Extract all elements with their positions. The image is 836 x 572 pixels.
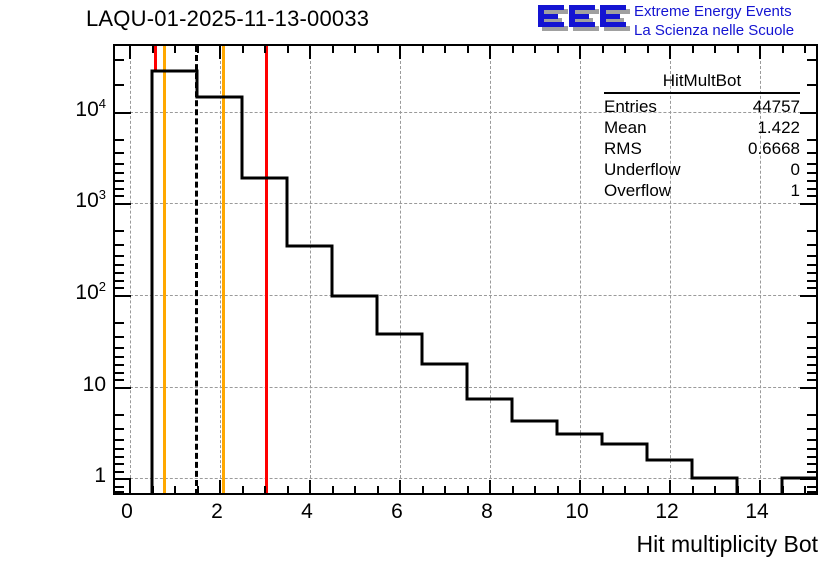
- ytick-right-minor: [807, 347, 816, 349]
- ytick-right-minor: [807, 336, 816, 338]
- ytick-label-1e2: 102: [38, 282, 106, 304]
- ytick-minor-left: [115, 188, 124, 190]
- xtick-top-minor-3: [264, 46, 266, 53]
- ytick-right-minor: [807, 448, 816, 450]
- ytick-right-major-1e3: [800, 203, 816, 205]
- ytick-minor-left: [115, 152, 124, 154]
- stats-value-rms: 0.6668: [748, 138, 800, 159]
- stats-label-overflow: Overflow: [604, 180, 671, 201]
- xtick-major-8: [489, 480, 491, 493]
- xtick-top-minor-8-5: [512, 46, 514, 53]
- xtick-top-minor-14-5: [782, 46, 784, 53]
- ytick-right-minor: [807, 272, 816, 274]
- ytick-right-minor: [807, 364, 816, 366]
- stats-label-underflow: Underflow: [604, 159, 681, 180]
- ytick-right-minor: [807, 372, 816, 374]
- xtick-major-12: [669, 480, 671, 493]
- xtick-top-minor-6-5: [422, 46, 424, 53]
- xtick-top-major-14: [759, 46, 761, 59]
- xtick-top-major-2: [219, 46, 221, 59]
- ytick-minor-left: [115, 59, 124, 61]
- xtick-minor-11-5: [647, 486, 649, 493]
- ytick-right-minor: [807, 471, 816, 473]
- xtick-label-4: 4: [277, 499, 337, 524]
- xtick-minor-6-5: [422, 486, 424, 493]
- ytick-right-major-1: [800, 478, 816, 480]
- xtick-label-2: 2: [187, 499, 247, 524]
- ytick-minor-left: [115, 439, 124, 441]
- xtick-top-major-12: [669, 46, 671, 59]
- ytick-minor-left: [115, 264, 124, 266]
- ytick-right-minor: [807, 163, 816, 165]
- ytick-major-1e4: [115, 112, 131, 114]
- ytick-minor-left: [115, 322, 124, 324]
- ytick-minor-left: [115, 372, 124, 374]
- xtick-top-major-6: [399, 46, 401, 59]
- ytick-major-1e3: [115, 203, 131, 205]
- xtick-top-minor-7: [444, 46, 446, 53]
- ytick-right-minor: [807, 264, 816, 266]
- ytick-minor-left: [115, 255, 124, 257]
- ytick-minor-left: [115, 272, 124, 274]
- xtick-label-6: 6: [367, 499, 427, 524]
- stats-row-rms: RMS 0.6668: [600, 138, 804, 159]
- xtick-top-minor-9: [534, 46, 536, 53]
- xtick-label-0: 0: [97, 499, 157, 524]
- ytick-right-minor: [807, 428, 816, 430]
- ytick-right-minor: [807, 287, 816, 289]
- ytick-right-minor: [807, 244, 816, 246]
- xtick-minor-1-5: [197, 486, 199, 493]
- xtick-major-6: [399, 480, 401, 493]
- ytick-minor-left: [115, 486, 124, 488]
- xtick-minor-7-5: [467, 486, 469, 493]
- ytick-right-minor: [807, 379, 816, 381]
- xtick-label-8: 8: [457, 499, 517, 524]
- eee-logo-text: Extreme Energy Events La Scienza nelle S…: [634, 2, 834, 40]
- ytick-right-minor: [807, 84, 816, 86]
- ytick-right-minor: [807, 195, 816, 197]
- ytick-minor-left: [115, 139, 124, 141]
- ytick-minor-left: [115, 347, 124, 349]
- xtick-top-minor-10-5: [602, 46, 604, 53]
- ytick-major-10: [115, 387, 131, 389]
- xtick-label-10: 10: [547, 499, 607, 524]
- xtick-label-12: 12: [637, 499, 697, 524]
- xtick-top-major-8: [489, 46, 491, 59]
- stats-row-mean: Mean 1.422: [600, 117, 804, 138]
- xtick-top-minor-4-5: [332, 46, 334, 53]
- eee-logo-mark: [538, 3, 630, 37]
- ytick-minor-left: [115, 84, 124, 86]
- ytick-label-1e3: 103: [38, 190, 106, 212]
- xtick-top-minor-1: [174, 46, 176, 53]
- stats-row-entries: Entries 44757: [600, 96, 804, 117]
- ytick-minor-left: [115, 163, 124, 165]
- ytick-right-minor: [807, 456, 816, 458]
- xtick-minor-0-5: [152, 486, 154, 493]
- ytick-minor-left: [115, 336, 124, 338]
- xtick-minor-2-5: [242, 486, 244, 493]
- stats-label-entries: Entries: [604, 96, 657, 117]
- xtick-major-2: [219, 480, 221, 493]
- xtick-top-minor-12-5: [692, 46, 694, 53]
- xtick-top-minor-15: [804, 46, 806, 53]
- ytick-minor-left: [115, 448, 124, 450]
- xtick-major-14: [759, 480, 761, 493]
- ytick-right-minor: [807, 172, 816, 174]
- ytick-major-1: [115, 478, 131, 480]
- ytick-right-major-1e2: [800, 295, 816, 297]
- ytick-right-minor: [807, 356, 816, 358]
- xtick-minor-7: [444, 486, 446, 493]
- xtick-top-minor-11: [624, 46, 626, 53]
- ytick-minor-left: [115, 244, 124, 246]
- plot-canvas: LAQU-01-2025-11-13-00033: [0, 0, 836, 572]
- ytick-right-minor: [807, 255, 816, 257]
- eee-logo-line2: La Scienza nelle Scuole: [634, 21, 834, 40]
- xtick-top-minor-3-5: [287, 46, 289, 53]
- xtick-minor-4-5: [332, 486, 334, 493]
- eee-logo: Extreme Energy Events La Scienza nelle S…: [538, 2, 834, 40]
- xtick-top-minor-2-5: [242, 46, 244, 53]
- ytick-minor-left: [115, 471, 124, 473]
- xtick-minor-10-5: [602, 486, 604, 493]
- xtick-minor-5-5: [377, 486, 379, 493]
- ytick-right-minor: [807, 280, 816, 282]
- stats-row-underflow: Underflow 0: [600, 159, 804, 180]
- x-axis-title: Hit multiplicity Bot: [637, 530, 818, 558]
- xtick-top-major-0: [129, 46, 131, 59]
- xtick-label-14: 14: [727, 499, 787, 524]
- ytick-label-1: 1: [38, 465, 106, 487]
- ytick-right-minor: [807, 439, 816, 441]
- stats-value-entries: 44757: [753, 96, 800, 117]
- ytick-right-minor: [807, 230, 816, 232]
- ytick-minor-left: [115, 491, 124, 493]
- ytick-right-minor: [807, 414, 816, 416]
- xtick-top-major-10: [579, 46, 581, 59]
- xtick-minor-1: [174, 486, 176, 493]
- ytick-minor-left: [115, 414, 124, 416]
- xtick-minor-12-5: [692, 486, 694, 493]
- stats-box: HitMultBot Entries 44757 Mean 1.422 RMS …: [600, 70, 804, 201]
- ytick-major-1e2: [115, 295, 131, 297]
- eee-logo-line1: Extreme Energy Events: [634, 2, 834, 21]
- xtick-minor-14-5: [782, 486, 784, 493]
- ytick-minor-left: [115, 180, 124, 182]
- ytick-label-10: 10: [38, 374, 106, 396]
- stats-title: HitMultBot: [604, 70, 800, 94]
- xtick-top-major-4: [309, 46, 311, 59]
- xtick-major-4: [309, 480, 311, 493]
- stats-value-mean: 1.422: [757, 117, 800, 138]
- ytick-right-minor: [807, 188, 816, 190]
- ytick-minor-left: [115, 364, 124, 366]
- xtick-top-minor-13: [714, 46, 716, 53]
- ytick-right-minor: [807, 139, 816, 141]
- ytick-minor-left: [115, 356, 124, 358]
- ytick-right-minor: [807, 322, 816, 324]
- xtick-top-minor-13-5: [737, 46, 739, 53]
- ytick-right-minor: [807, 152, 816, 154]
- stats-label-mean: Mean: [604, 117, 647, 138]
- xtick-minor-13: [714, 486, 716, 493]
- xtick-minor-5: [354, 486, 356, 493]
- stats-label-rms: RMS: [604, 138, 642, 159]
- xtick-minor-15: [804, 486, 806, 493]
- xtick-minor-8-5: [512, 486, 514, 493]
- xtick-top-minor-11-5: [647, 46, 649, 53]
- stats-row-overflow: Overflow 1: [600, 180, 804, 201]
- ytick-right-minor: [807, 59, 816, 61]
- xtick-top-minor-5-5: [377, 46, 379, 53]
- xtick-major-0: [129, 480, 131, 493]
- ytick-minor-left: [115, 280, 124, 282]
- ytick-right-minor: [807, 463, 816, 465]
- ytick-right-minor: [807, 486, 816, 488]
- xtick-minor-9: [534, 486, 536, 493]
- ytick-label-1e4: 104: [38, 99, 106, 121]
- ytick-minor-left: [115, 172, 124, 174]
- xtick-minor-3-5: [287, 486, 289, 493]
- xtick-minor-3: [264, 486, 266, 493]
- ytick-right-minor: [807, 180, 816, 182]
- stats-value-underflow: 0: [791, 159, 800, 180]
- ytick-right-minor: [807, 491, 816, 493]
- xtick-top-minor-9-5: [557, 46, 559, 53]
- ytick-minor-left: [115, 428, 124, 430]
- xtick-minor-9-5: [557, 486, 559, 493]
- ytick-minor-left: [115, 463, 124, 465]
- page-title: LAQU-01-2025-11-13-00033: [86, 6, 369, 32]
- xtick-top-minor-5: [354, 46, 356, 53]
- xtick-top-minor-0-5: [152, 46, 154, 53]
- xtick-top-minor-7-5: [467, 46, 469, 53]
- ytick-minor-left: [115, 230, 124, 232]
- xtick-major-10: [579, 480, 581, 493]
- ytick-minor-left: [115, 287, 124, 289]
- xtick-minor-11: [624, 486, 626, 493]
- stats-value-overflow: 1: [791, 180, 800, 201]
- xtick-top-minor-1-5: [197, 46, 199, 53]
- ytick-minor-left: [115, 379, 124, 381]
- ytick-minor-left: [115, 456, 124, 458]
- ytick-minor-left: [115, 195, 124, 197]
- ytick-right-major-10: [800, 387, 816, 389]
- xtick-minor-13-5: [737, 486, 739, 493]
